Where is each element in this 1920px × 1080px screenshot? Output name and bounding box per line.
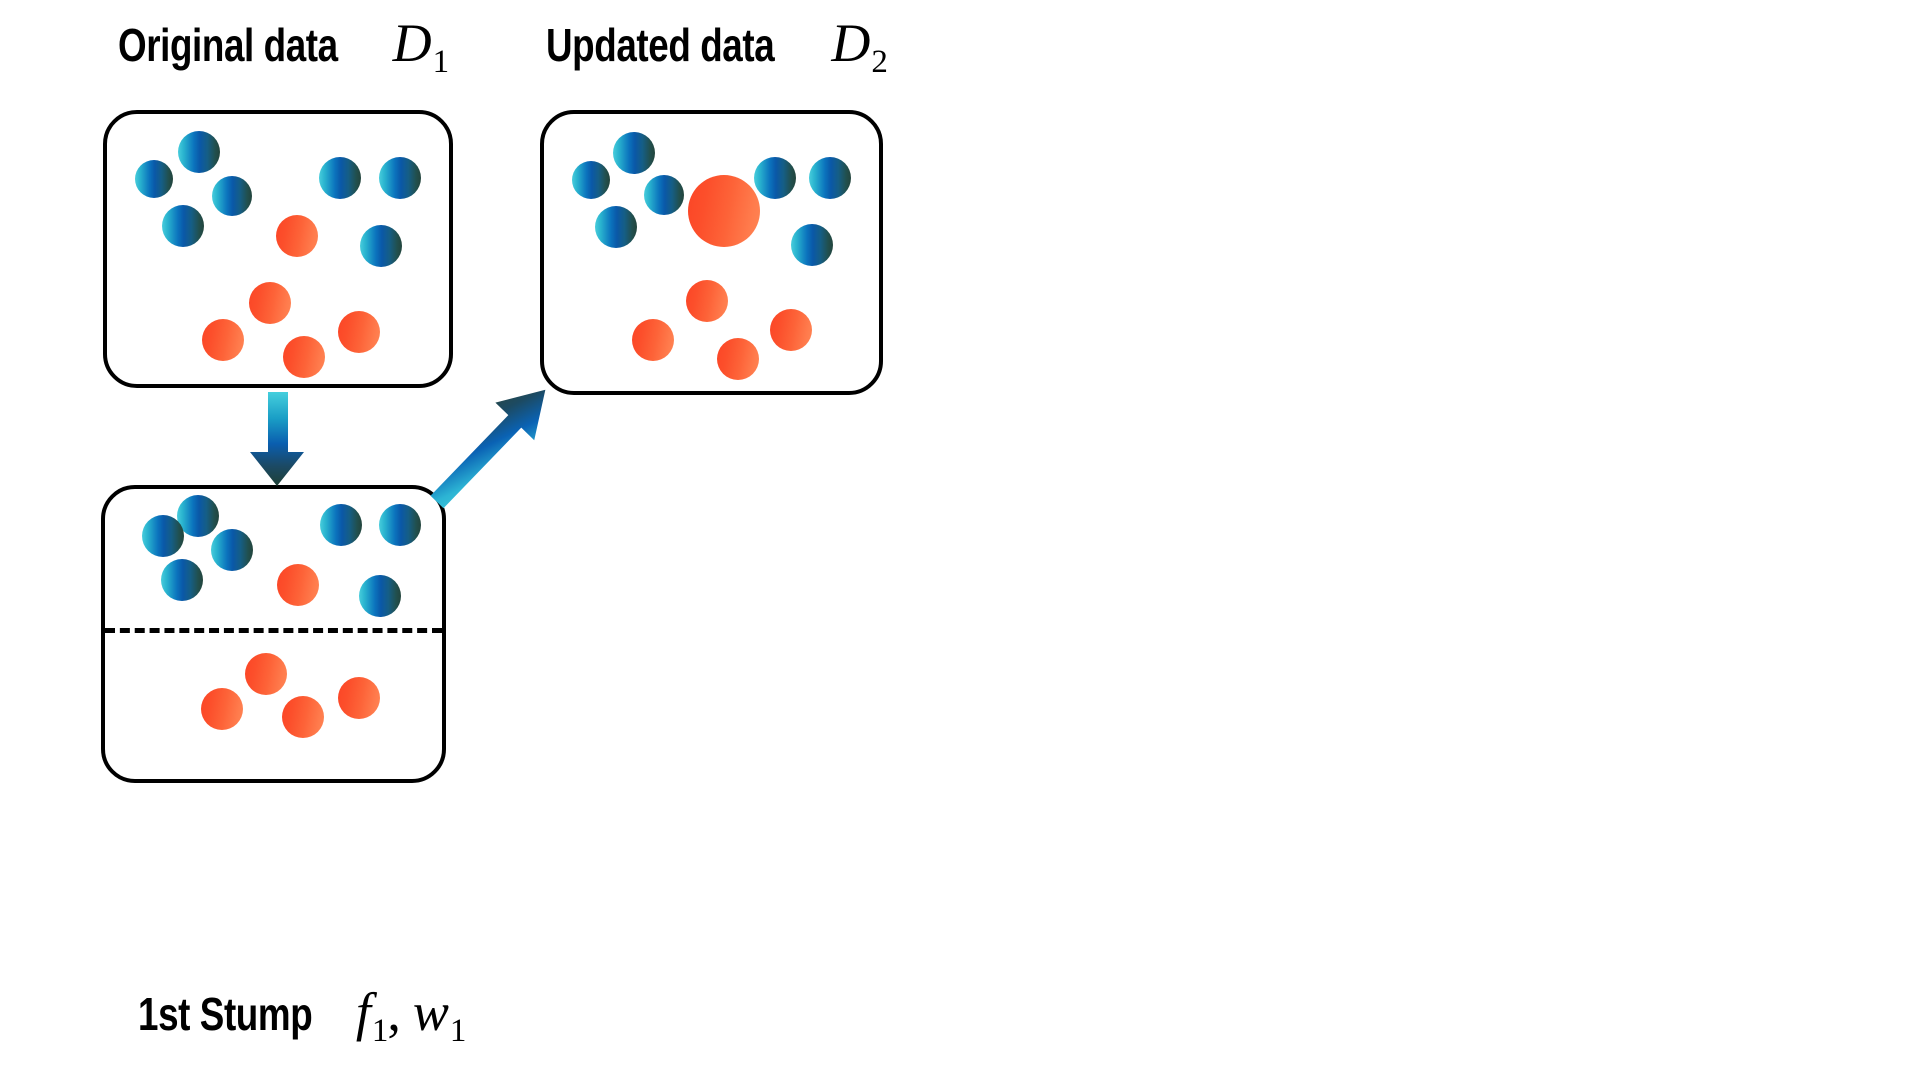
data-point-blue — [613, 132, 655, 174]
data-point-blue — [211, 529, 253, 571]
symbol-d2-letter: D — [831, 13, 870, 73]
data-point-blue — [162, 205, 204, 247]
symbol-d1: D1 — [393, 16, 449, 70]
data-point-orange — [283, 336, 325, 378]
data-point-blue — [319, 157, 361, 199]
symbol-f-letter: f — [356, 982, 371, 1042]
data-point-blue — [572, 161, 610, 199]
data-point-orange — [686, 280, 728, 322]
data-point-blue — [754, 157, 796, 199]
panel-title-original-data: Original dataD1 — [118, 16, 448, 70]
panel-caption-first-stump-text: 1st Stump — [138, 991, 312, 1037]
data-point-blue — [644, 175, 684, 215]
figure-canvas: Original dataD1 Updated dataD2 1st Stump… — [0, 0, 1920, 1080]
symbol-comma: , — [387, 982, 401, 1042]
data-point-orange — [770, 309, 812, 351]
panel-title-original-data-text: Original data — [118, 22, 338, 68]
data-point-blue — [359, 575, 401, 617]
data-point-orange — [276, 215, 318, 257]
symbol-d1-subscript: 1 — [433, 44, 450, 80]
panel-title-updated-data-text: Updated data — [546, 22, 774, 68]
symbol-d2-subscript: 2 — [871, 44, 888, 80]
symbol-w-subscript: 1 — [450, 1013, 467, 1049]
data-point-blue — [135, 160, 173, 198]
data-point-orange — [632, 319, 674, 361]
symbol-f-subscript: 1 — [372, 1013, 389, 1049]
data-point-blue — [320, 504, 362, 546]
data-point-blue — [379, 157, 421, 199]
data-point-blue — [212, 176, 252, 216]
data-point-blue — [161, 559, 203, 601]
data-point-blue — [791, 224, 833, 266]
symbol-f1-w1: f1,w1 — [356, 985, 466, 1039]
data-point-orange — [688, 175, 760, 247]
panel-caption-first-stump: 1st Stumpf1,w1 — [138, 985, 465, 1039]
data-point-blue — [595, 206, 637, 248]
symbol-d1-letter: D — [393, 13, 432, 73]
data-point-orange — [202, 319, 244, 361]
symbol-d2: D2 — [831, 16, 887, 70]
data-point-orange — [338, 677, 380, 719]
data-point-orange — [717, 338, 759, 380]
arrow-original-to-stump — [250, 392, 304, 486]
data-point-blue — [809, 157, 851, 199]
data-point-orange — [277, 564, 319, 606]
data-point-blue — [379, 504, 421, 546]
panel-title-updated-data: Updated dataD2 — [546, 16, 887, 70]
data-point-orange — [201, 688, 243, 730]
symbol-w-letter: w — [413, 982, 449, 1042]
stump-decision-boundary — [105, 628, 442, 633]
data-point-blue — [142, 515, 184, 557]
data-point-orange — [245, 653, 287, 695]
data-point-blue — [360, 225, 402, 267]
data-point-orange — [249, 282, 291, 324]
data-point-blue — [178, 131, 220, 173]
data-point-orange — [338, 311, 380, 353]
data-point-orange — [282, 696, 324, 738]
